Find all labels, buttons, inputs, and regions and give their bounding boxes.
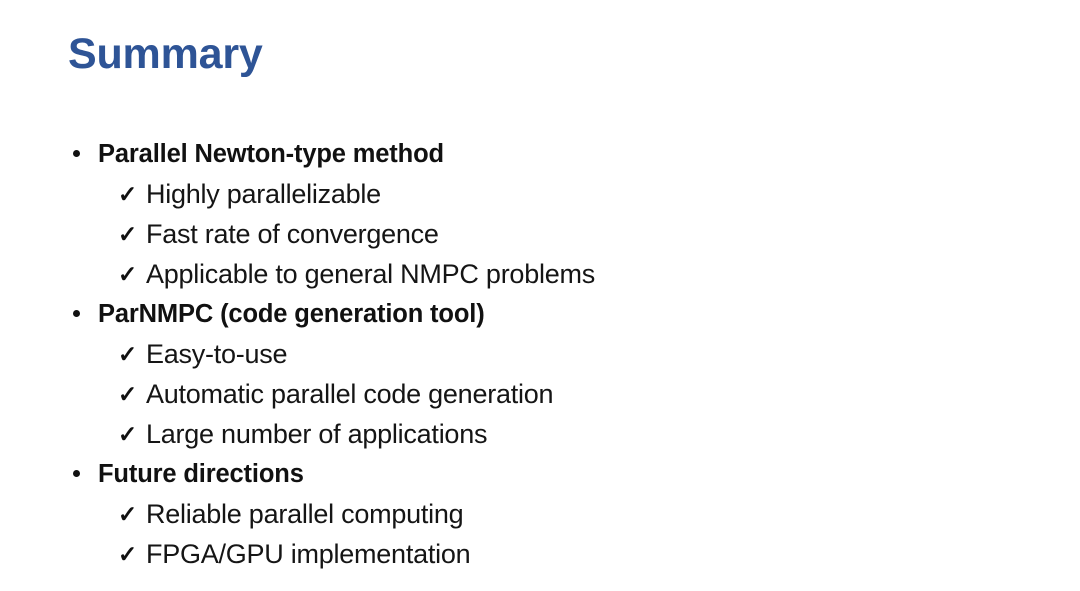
outline-item: ✓ Reliable parallel computing — [0, 494, 1080, 534]
bullet-dot-icon — [73, 454, 89, 494]
outline-item: ✓ Automatic parallel code generation — [0, 374, 1080, 414]
slide-body-outline: Parallel Newton-type method ✓ Highly par… — [0, 134, 1080, 574]
outline-item: ✓ Easy-to-use — [0, 334, 1080, 374]
outline-item: ✓ Applicable to general NMPC problems — [0, 254, 1080, 294]
outline-heading: ParNMPC (code generation tool) — [0, 294, 1080, 334]
bullet-dot-icon — [73, 134, 89, 174]
outline-group: Parallel Newton-type method ✓ Highly par… — [0, 134, 1080, 294]
outline-item: ✓ Fast rate of convergence — [0, 214, 1080, 254]
check-icon: ✓ — [118, 334, 144, 374]
outline-item-label: Applicable to general NMPC problems — [146, 254, 595, 294]
outline-item-label: Highly parallelizable — [146, 174, 381, 214]
check-icon: ✓ — [118, 174, 144, 214]
outline-item-label: FPGA/GPU implementation — [146, 534, 470, 574]
outline-heading: Parallel Newton-type method — [0, 134, 1080, 174]
outline-heading-label: Parallel Newton-type method — [98, 134, 444, 174]
outline-item: ✓ FPGA/GPU implementation — [0, 534, 1080, 574]
outline-item-label: Reliable parallel computing — [146, 494, 463, 534]
outline-item-label: Fast rate of convergence — [146, 214, 439, 254]
outline-item-label: Easy-to-use — [146, 334, 287, 374]
bullet-dot-icon — [73, 294, 89, 334]
presentation-slide: Summary Parallel Newton-type method ✓ Hi… — [0, 0, 1080, 591]
check-icon: ✓ — [118, 214, 144, 254]
page-title: Summary — [68, 30, 263, 79]
outline-heading: Future directions — [0, 454, 1080, 494]
check-icon: ✓ — [118, 414, 144, 454]
outline-group: ParNMPC (code generation tool) ✓ Easy-to… — [0, 294, 1080, 454]
outline-item: ✓ Large number of applications — [0, 414, 1080, 454]
outline-heading-label: Future directions — [98, 454, 304, 494]
check-icon: ✓ — [118, 534, 144, 574]
check-icon: ✓ — [118, 374, 144, 414]
outline-group: Future directions ✓ Reliable parallel co… — [0, 454, 1080, 574]
outline-heading-label: ParNMPC (code generation tool) — [98, 294, 485, 334]
check-icon: ✓ — [118, 254, 144, 294]
outline-item: ✓ Highly parallelizable — [0, 174, 1080, 214]
check-icon: ✓ — [118, 494, 144, 534]
outline-item-label: Large number of applications — [146, 414, 487, 454]
outline-item-label: Automatic parallel code generation — [146, 374, 553, 414]
